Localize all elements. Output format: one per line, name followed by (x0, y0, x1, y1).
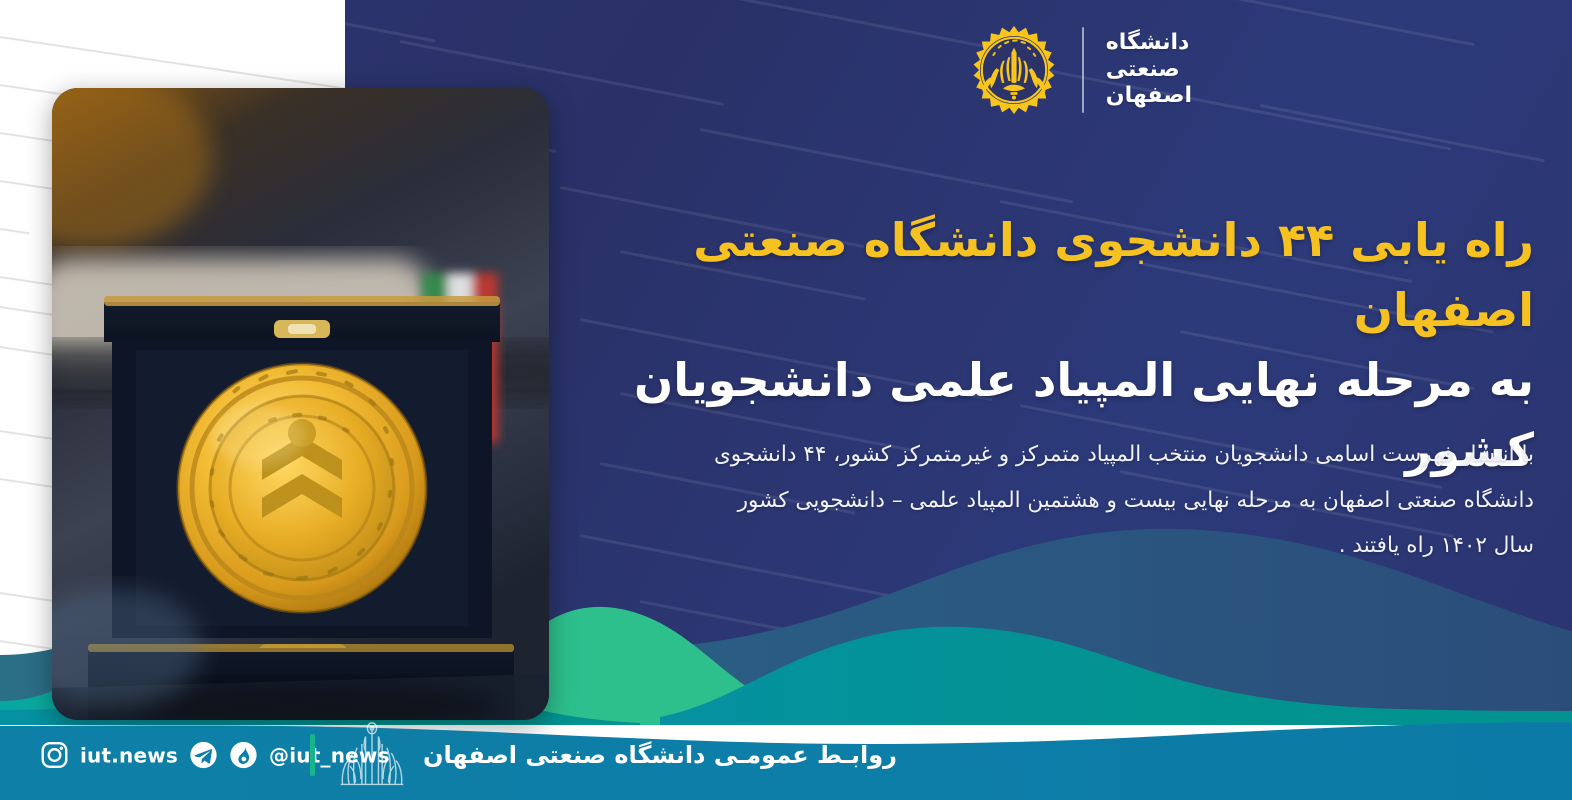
bale-icon[interactable] (229, 741, 258, 770)
body-line-2: دانشگاه صنعتی اصفهان به مرحله نهایی بیست… (534, 478, 1534, 524)
headline-line-1: راه یابی ۴۴ دانشجوی دانشگاه صنعتی اصفهان (534, 206, 1534, 346)
body-copy: با انتشار فهرست اسامی دانشجویان منتخب ال… (534, 432, 1534, 569)
brand-divider (1082, 27, 1084, 113)
footer-bar: iut.news @iut_news روابـط عمومـی دانشگاه… (0, 710, 1572, 800)
poster-canvas: دانشگاه صنعتی اصفهان (0, 0, 1572, 800)
public-relations-block: روابـط عمومـی دانشگاه صنعتی اصفهان (335, 720, 897, 790)
instagram-handle[interactable]: iut.news (80, 743, 178, 767)
iut-gear-logo-icon (968, 24, 1060, 116)
brand-line-2: صنعتی (1106, 57, 1180, 84)
instagram-icon[interactable] (40, 741, 69, 770)
iut-monument-icon (335, 720, 409, 790)
footer-divider (310, 734, 315, 776)
body-line-3: سال ۱۴۰۲ راه یافتند . (534, 523, 1534, 569)
brand-line-1: دانشگاه (1106, 30, 1190, 57)
brand-header: دانشگاه صنعتی اصفهان (968, 24, 1192, 116)
body-line-1: با انتشار فهرست اسامی دانشجویان منتخب ال… (534, 432, 1534, 478)
medal-photo (52, 88, 549, 720)
telegram-icon[interactable] (189, 741, 218, 770)
brand-line-3: اصفهان (1106, 83, 1192, 110)
brand-text: دانشگاه صنعتی اصفهان (1106, 30, 1192, 110)
public-relations-label: روابـط عمومـی دانشگاه صنعتی اصفهان (423, 741, 897, 769)
